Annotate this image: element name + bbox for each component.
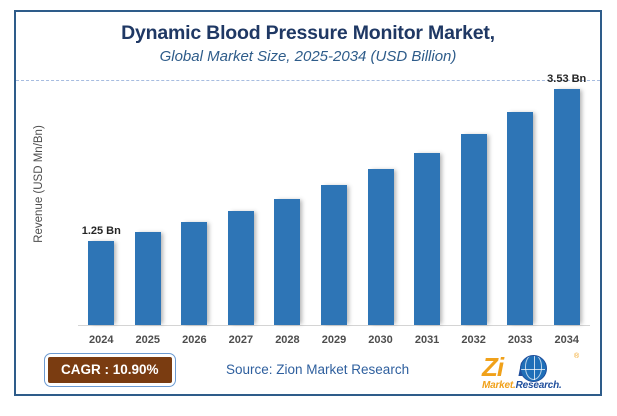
bar-2034 — [554, 89, 580, 325]
bar-2024 — [88, 241, 114, 325]
bar-2025 — [135, 232, 161, 325]
bar-rect — [507, 112, 533, 325]
chart-header: Dynamic Blood Pressure Monitor Market, G… — [16, 12, 600, 80]
bar-value-label-2024: 1.25 Bn — [82, 225, 121, 237]
header-divider — [16, 80, 600, 81]
plot-area: Revenue (USD Mn/Bn) 1.25 Bn3.53 Bn — [16, 82, 604, 332]
bar-value-label-2034: 3.53 Bn — [547, 73, 586, 85]
x-tick-2031: 2031 — [404, 334, 451, 346]
chart-subtitle: Global Market Size, 2025-2034 (USD Billi… — [16, 44, 600, 65]
bar-rect — [321, 185, 347, 325]
logo-text-zi: Zi — [482, 352, 503, 382]
bar-rect — [88, 241, 114, 325]
bar-rect — [181, 222, 207, 325]
registered-trademark-icon: ® — [574, 353, 579, 360]
bar-2029 — [321, 185, 347, 325]
logo-tagline: Market.Research. — [482, 380, 562, 391]
bar-2033 — [507, 112, 533, 325]
bar-rect — [461, 134, 487, 325]
x-tick-2027: 2027 — [218, 334, 265, 346]
cagr-badge-label: CAGR : 10.90% — [48, 357, 172, 383]
bar-rect — [135, 232, 161, 325]
chart-frame: Dynamic Blood Pressure Monitor Market, G… — [14, 10, 602, 396]
globe-icon — [520, 355, 547, 382]
bar-rect — [274, 199, 300, 325]
bar-2026 — [181, 222, 207, 325]
bars-container: 1.25 Bn3.53 Bn — [78, 82, 590, 332]
x-tick-2032: 2032 — [450, 334, 497, 346]
x-tick-2033: 2033 — [497, 334, 544, 346]
zion-logo: Zion ® Market.Research. — [482, 352, 586, 396]
x-tick-2025: 2025 — [125, 334, 172, 346]
bar-rect — [414, 153, 440, 325]
x-tick-2034: 2034 — [543, 334, 590, 346]
bar-2027 — [228, 211, 254, 325]
bar-2028 — [274, 199, 300, 325]
logo-tagline-market: Market. — [482, 380, 516, 391]
x-tick-2026: 2026 — [171, 334, 218, 346]
source-label: Source: Zion Market Research — [226, 362, 409, 377]
logo-tagline-research: Research. — [516, 380, 562, 391]
x-tick-2024: 2024 — [78, 334, 125, 346]
x-tick-2029: 2029 — [311, 334, 358, 346]
y-axis-title: Revenue (USD Mn/Bn) — [33, 99, 45, 269]
bar-2032 — [461, 134, 487, 325]
bar-rect — [554, 89, 580, 325]
x-axis-baseline — [78, 325, 590, 326]
bar-2031 — [414, 153, 440, 325]
page-title: Dynamic Blood Pressure Monitor Market, — [16, 12, 600, 44]
globe-ring — [525, 355, 543, 380]
chart-footer: CAGR : 10.90% Source: Zion Market Resear… — [16, 350, 600, 396]
cagr-badge: CAGR : 10.90% — [44, 353, 176, 387]
bar-rect — [368, 169, 394, 325]
x-tick-2030: 2030 — [357, 334, 404, 346]
bar-rect — [228, 211, 254, 325]
x-tick-2028: 2028 — [264, 334, 311, 346]
bar-2030 — [368, 169, 394, 325]
